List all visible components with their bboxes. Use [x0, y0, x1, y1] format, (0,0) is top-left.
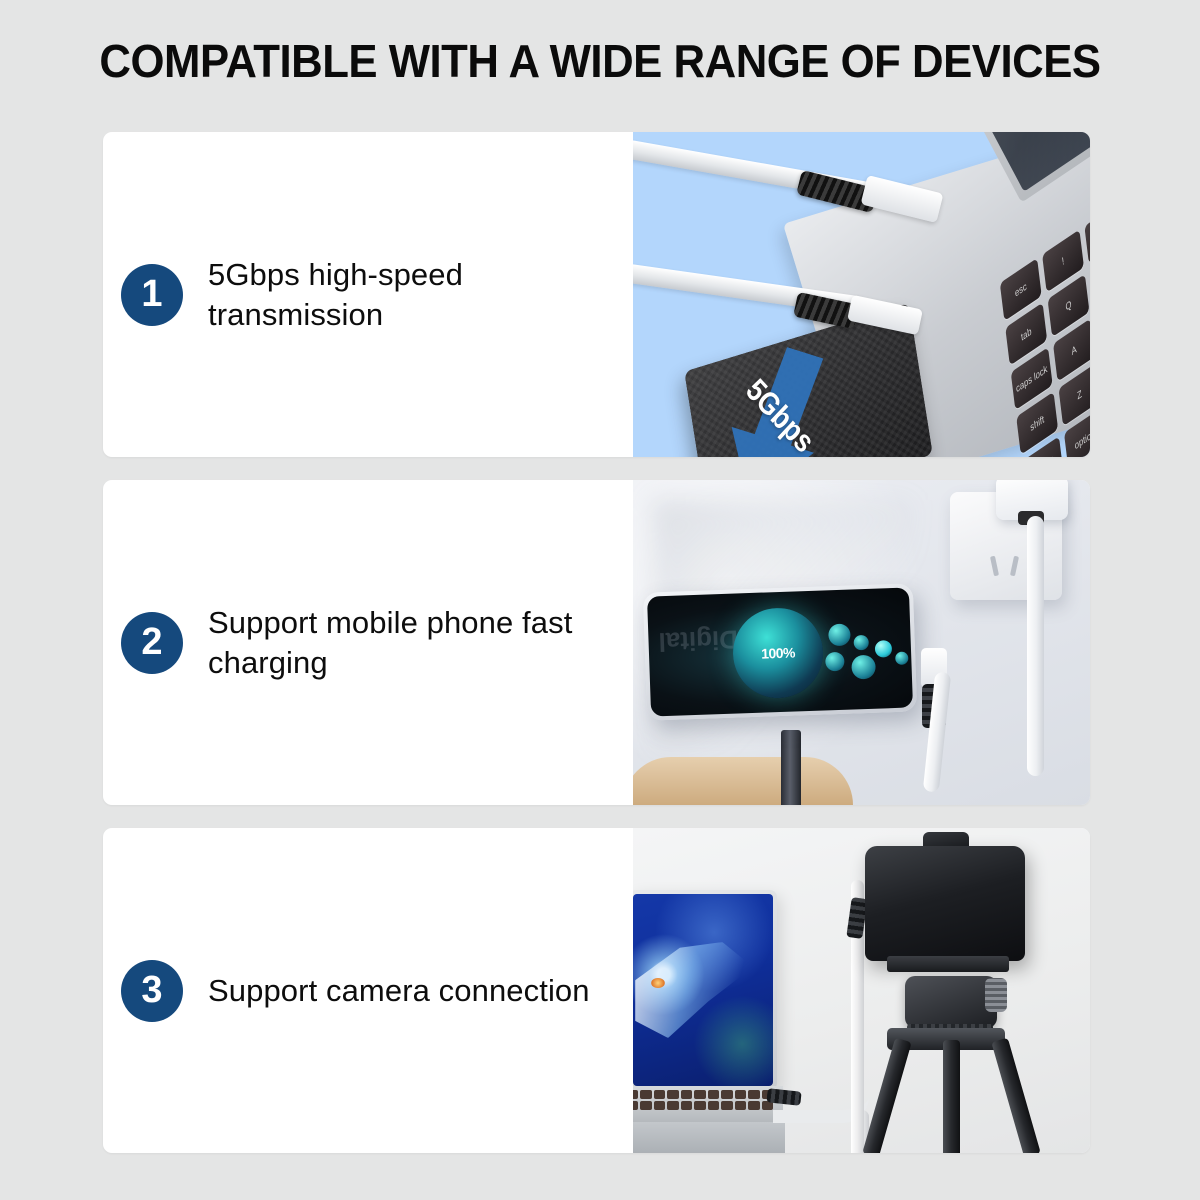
key	[654, 1090, 665, 1099]
bubble	[828, 624, 851, 647]
feature-photo-2: Digital 100%	[633, 480, 1090, 805]
dslr-camera-body	[865, 846, 1025, 961]
key	[748, 1090, 759, 1099]
feature-card-3-content: 3 Support camera connection	[103, 828, 633, 1153]
key	[721, 1101, 732, 1110]
feature-card-1: 1 5Gbps high-speed transmission esc !	[103, 132, 1090, 457]
feature-card-1-content: 1 5Gbps high-speed transmission	[103, 132, 633, 457]
phone-stand	[781, 730, 801, 805]
tripod-leg	[991, 1038, 1040, 1153]
key	[640, 1090, 651, 1099]
tripod-leg	[943, 1040, 960, 1153]
key	[721, 1090, 732, 1099]
key	[735, 1090, 746, 1099]
key	[735, 1101, 746, 1110]
smartphone: Digital 100%	[643, 583, 917, 720]
laptop-screen	[633, 894, 773, 1086]
outlet-slot	[990, 556, 999, 577]
wooden-desk	[633, 757, 853, 805]
step-badge-2: 2	[121, 612, 183, 674]
key	[654, 1101, 665, 1110]
key	[694, 1090, 705, 1099]
page-title: COMPATIBLE WITH A WIDE RANGE OF DEVICES	[30, 34, 1170, 88]
laptop-lid	[633, 890, 777, 1090]
laptop-foot	[633, 1122, 785, 1153]
key	[708, 1090, 719, 1099]
battery-percent-label: 100%	[761, 644, 795, 661]
step-badge-3: 3	[121, 960, 183, 1022]
feature-card-list: 1 5Gbps high-speed transmission esc !	[103, 132, 1090, 1153]
tripod-leg	[862, 1038, 911, 1153]
bubble	[895, 652, 908, 665]
charging-orb-icon: 100%	[731, 607, 824, 700]
bubble	[853, 635, 869, 651]
key	[694, 1101, 705, 1110]
bubble	[851, 655, 876, 680]
step-badge-1: 1	[121, 264, 183, 326]
feature-text-2: Support mobile phone fast charging	[208, 603, 598, 683]
power-adapter	[996, 480, 1068, 520]
key	[708, 1101, 719, 1110]
phone-wallpaper-text: Digital	[658, 623, 738, 657]
screen-artwork	[635, 942, 753, 1038]
feature-text-3: Support camera connection	[208, 971, 590, 1011]
feature-card-2: 2 Support mobile phone fast charging Dig…	[103, 480, 1090, 805]
key	[640, 1101, 651, 1110]
phone-screen: Digital 100%	[647, 587, 913, 716]
feature-text-1: 5Gbps high-speed transmission	[208, 255, 598, 335]
tripod-ball-head	[905, 976, 997, 1028]
key	[633, 1090, 638, 1099]
key: @	[1084, 201, 1090, 264]
bubble	[825, 652, 845, 672]
key	[681, 1101, 692, 1110]
tripod-quick-release-plate	[887, 956, 1009, 972]
key	[748, 1101, 759, 1110]
laptop-keyboard	[633, 1090, 773, 1112]
wall-charging-wire	[1027, 516, 1044, 776]
tripod-knob	[985, 978, 1007, 1012]
screen-glow-dot	[651, 978, 665, 988]
outlet-slot	[1010, 556, 1019, 577]
feature-card-3: 3 Support camera connection	[103, 828, 1090, 1153]
key	[667, 1101, 678, 1110]
feature-card-2-content: 2 Support mobile phone fast charging	[103, 480, 633, 805]
key	[667, 1090, 678, 1099]
key	[681, 1090, 692, 1099]
feature-photo-1: esc ! @ # tab Q W E caps lock A	[633, 132, 1090, 457]
feature-photo-3	[633, 828, 1090, 1153]
key	[633, 1101, 638, 1110]
product-feature-page: COMPATIBLE WITH A WIDE RANGE OF DEVICES …	[0, 0, 1200, 1200]
bubble	[875, 640, 893, 658]
